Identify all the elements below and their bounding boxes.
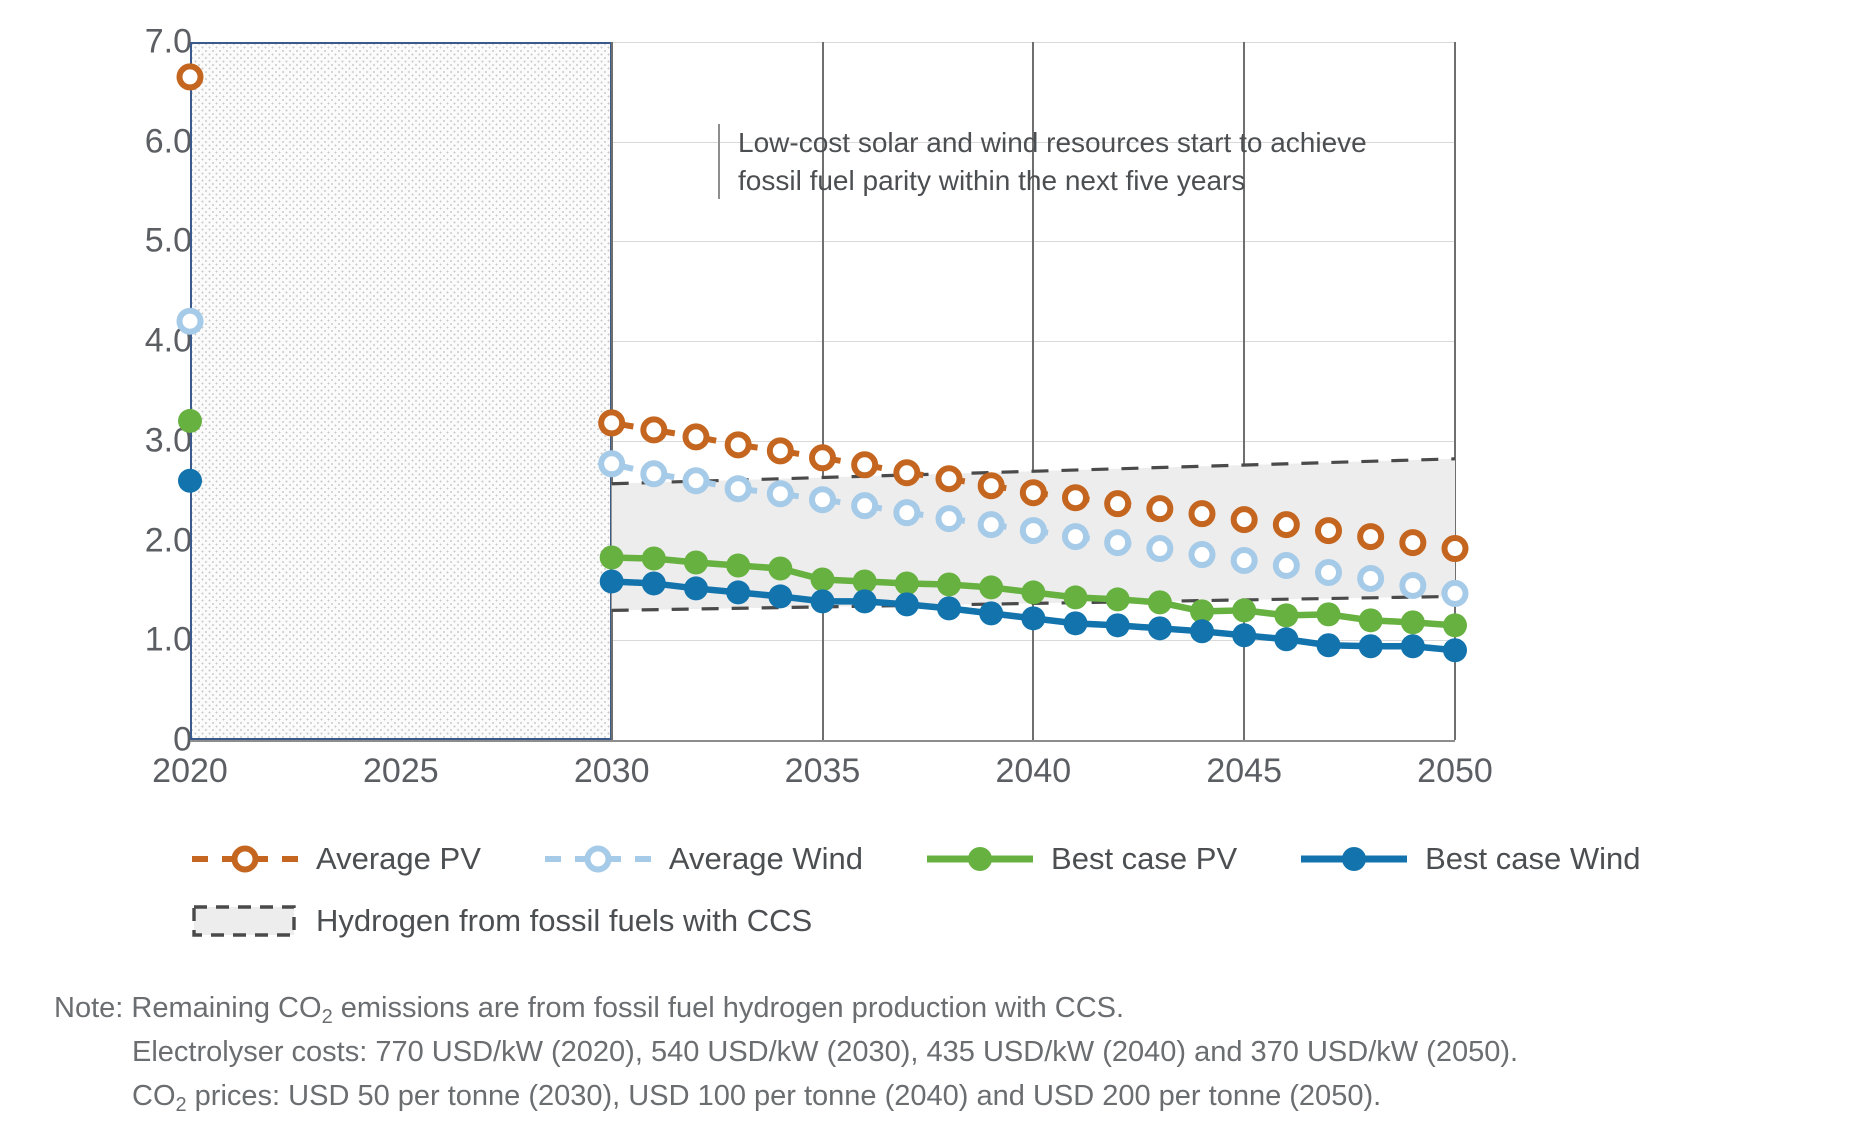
footnote-3-prefix: CO bbox=[132, 1080, 176, 1112]
legend-label: Hydrogen from fossil fuels with CCS bbox=[316, 903, 812, 939]
legend-swatch bbox=[543, 842, 653, 876]
footnote-line-1: Note: Remaining CO2 emissions are from f… bbox=[54, 986, 1854, 1030]
legend-item-average-pv[interactable]: Average PV bbox=[190, 841, 481, 877]
footnote-3-suffix: prices: USD 50 per tonne (2030), USD 100… bbox=[187, 1080, 1382, 1112]
annotation-line-2: fossil fuel parity within the next five … bbox=[738, 162, 1378, 200]
annotation-callout: Low-cost solar and wind resources start … bbox=[718, 124, 1378, 199]
x-tick-2035: 2035 bbox=[785, 752, 861, 791]
footnote-1-suffix: emissions are from fossil fuel hydrogen … bbox=[333, 992, 1124, 1024]
legend-item-average-wind[interactable]: Average Wind bbox=[543, 841, 863, 877]
legend-item-best-case-pv[interactable]: Best case PV bbox=[925, 841, 1237, 877]
x-tick-2045: 2045 bbox=[1206, 752, 1282, 791]
x-tick-2025: 2025 bbox=[363, 752, 439, 791]
y-tick-5-0: 5.0 bbox=[72, 222, 192, 261]
legend-swatch bbox=[925, 842, 1035, 876]
footnote-line-2: Electrolyser costs: 770 USD/kW (2020), 5… bbox=[54, 1030, 1854, 1074]
gridline-y-0 bbox=[190, 740, 1455, 742]
legend-item-best-case-wind[interactable]: Best case Wind bbox=[1299, 841, 1640, 877]
footnote-3-subscript: 2 bbox=[176, 1094, 187, 1116]
x-tick-2030: 2030 bbox=[574, 752, 650, 791]
legend-label: Average Wind bbox=[669, 841, 863, 877]
x-tick-2040: 2040 bbox=[996, 752, 1072, 791]
y-tick-1-0: 1.0 bbox=[72, 621, 192, 660]
legend-label: Best case Wind bbox=[1425, 841, 1640, 877]
annotation-line-1: Low-cost solar and wind resources start … bbox=[738, 124, 1378, 162]
y-tick-2-0: 2.0 bbox=[72, 521, 192, 560]
legend-item-hydrogen-from-fossil-fuels-with-ccs[interactable]: Hydrogen from fossil fuels with CCS bbox=[190, 903, 812, 939]
x-tick-2050: 2050 bbox=[1417, 752, 1493, 791]
x-tick-2020: 2020 bbox=[152, 752, 228, 791]
footnote-line-3: CO2 prices: USD 50 per tonne (2030), USD… bbox=[54, 1074, 1854, 1118]
legend-swatch-band bbox=[190, 904, 300, 938]
footnotes: Note: Remaining CO2 emissions are from f… bbox=[54, 986, 1854, 1118]
legend-label: Best case PV bbox=[1051, 841, 1237, 877]
legend-swatch bbox=[190, 842, 300, 876]
footnote-1-prefix: Note: Remaining CO bbox=[54, 992, 322, 1024]
legend-row-primary: Average PVAverage WindBest case PVBest c… bbox=[0, 828, 1868, 890]
legend-label: Average PV bbox=[316, 841, 481, 877]
y-tick-6-0: 6.0 bbox=[72, 122, 192, 161]
legend-row-band: Hydrogen from fossil fuels with CCS bbox=[0, 890, 1868, 952]
legend-swatch bbox=[1299, 842, 1409, 876]
y-tick-3-0: 3.0 bbox=[72, 421, 192, 460]
chart-area: LCOH (USD/kg H2) 7.06.05.04.03.02.01.00 … bbox=[0, 0, 1868, 790]
legend: Average PVAverage WindBest case PVBest c… bbox=[0, 828, 1868, 952]
y-tick-7-0: 7.0 bbox=[72, 23, 192, 62]
footnote-1-subscript: 2 bbox=[322, 1006, 333, 1028]
figure-root: LCOH (USD/kg H2) 7.06.05.04.03.02.01.00 … bbox=[0, 0, 1868, 1131]
y-tick-4-0: 4.0 bbox=[72, 322, 192, 361]
